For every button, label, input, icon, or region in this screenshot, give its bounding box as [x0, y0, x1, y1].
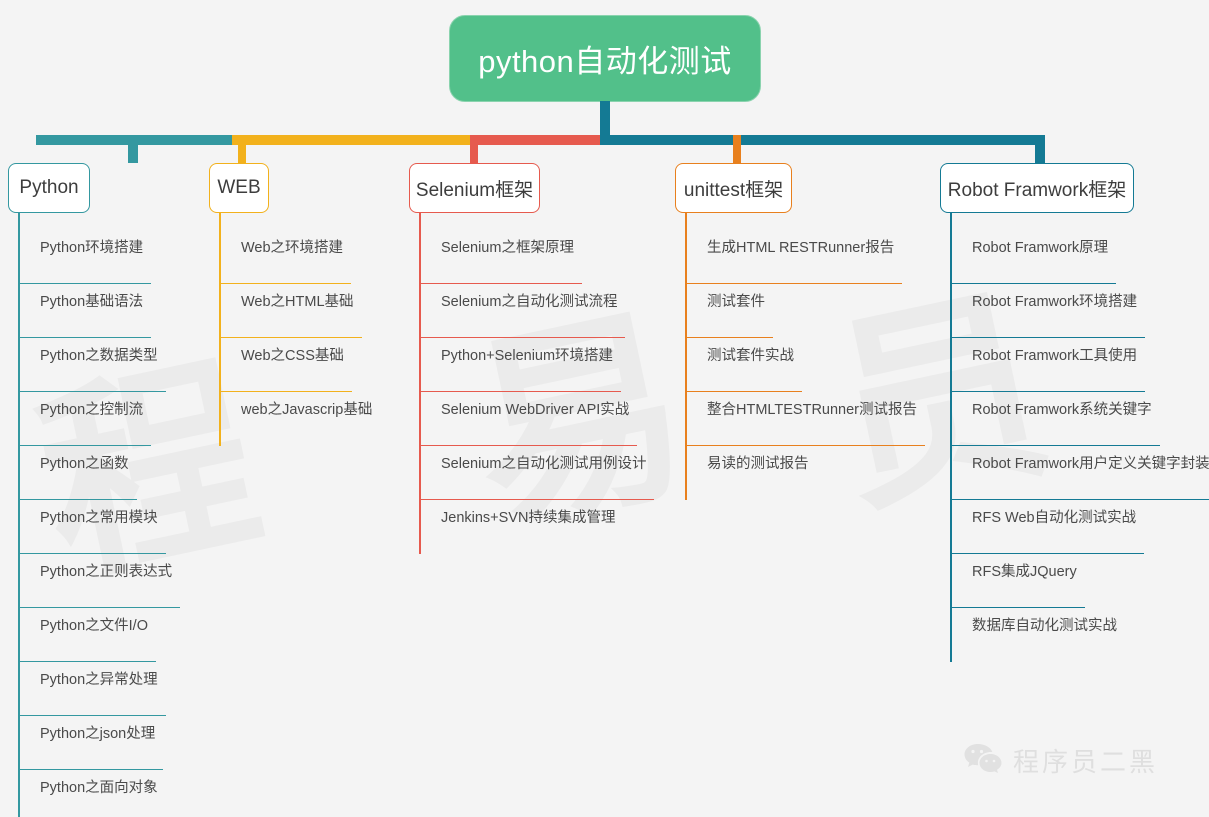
leaf-underline [219, 391, 352, 392]
branch-stem-web [238, 135, 246, 163]
leaf-item-label: Python之控制流 [40, 398, 143, 419]
leaf-underline [950, 445, 1160, 446]
leaf-item-label: Robot Framwork系统关键字 [972, 398, 1152, 419]
leaf-spine [18, 284, 20, 338]
leaf-item-label: Selenium之框架原理 [441, 236, 574, 257]
leaf-item-label: 测试套件实战 [707, 344, 794, 365]
wechat-watermark-label: 程序员二黑 [1013, 742, 1158, 779]
leaf-underline [18, 553, 166, 554]
leaf-spine [419, 284, 421, 338]
leaf-item-label: web之Javascrip基础 [241, 398, 372, 419]
leaf-spine [18, 500, 20, 554]
leaf-spine [685, 338, 687, 392]
leaf-item-label: 测试套件 [707, 290, 765, 311]
leaf-spine [685, 392, 687, 446]
leaf-spine [18, 716, 20, 770]
leaf-underline [219, 283, 351, 284]
root-node-label: python自动化测试 [478, 36, 732, 81]
trunk-segment-right [600, 135, 1041, 145]
leaf-item-label: 整合HTMLTESTRunner测试报告 [707, 398, 917, 419]
leaf-underline [950, 391, 1145, 392]
leaf-spine [219, 284, 221, 338]
leaf-spine [950, 554, 952, 608]
trunk-segment-web [232, 135, 472, 145]
leaf-spine [419, 446, 421, 500]
leaf-underline [685, 283, 902, 284]
leaf-item-label: Selenium WebDriver API实战 [441, 398, 629, 419]
leaf-spine [950, 446, 952, 500]
leaf-underline [18, 499, 137, 500]
leaf-item-label: Python之面向对象 [40, 776, 158, 797]
leaf-spine [419, 338, 421, 392]
branch-tail-python [18, 213, 20, 230]
leaf-spine [950, 392, 952, 446]
leaf-spine [419, 230, 421, 284]
leaf-underline [419, 283, 582, 284]
leaf-spine [419, 500, 421, 554]
leaf-underline [950, 283, 1116, 284]
leaf-underline [419, 337, 625, 338]
leaf-underline [685, 445, 925, 446]
branch-stem-robot [1035, 135, 1045, 163]
leaf-item-label: Python之函数 [40, 452, 129, 473]
leaf-item-label: 易读的测试报告 [707, 452, 809, 473]
leaf-item-label: Selenium之自动化测试流程 [441, 290, 617, 311]
leaf-item-label: Robot Framwork原理 [972, 236, 1108, 257]
background-watermark-char: 员 [801, 210, 1087, 555]
leaf-spine [18, 338, 20, 392]
leaf-underline [950, 499, 1209, 500]
leaf-spine [950, 608, 952, 662]
leaf-item-label: Web之环境搭建 [241, 236, 343, 257]
leaf-spine [219, 230, 221, 284]
branch-node-label: unittest框架 [684, 175, 783, 202]
leaf-spine [219, 338, 221, 392]
leaf-item-label: Python之异常处理 [40, 668, 158, 689]
leaf-spine [950, 284, 952, 338]
leaf-item-label: RFS Web自动化测试实战 [972, 506, 1136, 527]
leaf-item-label: Python之文件I/O [40, 614, 148, 635]
leaf-item-label: Robot Framwork用户定义关键字封装 [972, 452, 1209, 473]
leaf-spine [419, 392, 421, 446]
leaf-spine [950, 230, 952, 284]
leaf-item-label: Python之数据类型 [40, 344, 158, 365]
wechat-watermark: 程序员二黑 [963, 742, 1158, 779]
leaf-item-label: Robot Framwork环境搭建 [972, 290, 1137, 311]
leaf-underline [18, 769, 163, 770]
leaf-item-label: Python之正则表达式 [40, 560, 172, 581]
leaf-item-label: Jenkins+SVN持续集成管理 [441, 506, 615, 527]
leaf-item-label: Web之HTML基础 [241, 290, 354, 311]
leaf-item-label: Web之CSS基础 [241, 344, 344, 365]
branch-tail-web [219, 213, 221, 230]
leaf-item-label: Robot Framwork工具使用 [972, 344, 1137, 365]
trunk-segment-selenium [472, 135, 605, 145]
leaf-item-label: Python+Selenium环境搭建 [441, 344, 613, 365]
leaf-item-label: Python之json处理 [40, 722, 155, 743]
leaf-spine [950, 338, 952, 392]
branch-stem-python [128, 135, 138, 163]
leaf-underline [950, 337, 1145, 338]
leaf-underline [685, 337, 773, 338]
leaf-underline [18, 391, 166, 392]
leaf-underline [419, 445, 637, 446]
leaf-spine [18, 392, 20, 446]
branch-node-label: Robot Framwork框架 [948, 175, 1126, 202]
branch-node-robot[interactable]: Robot Framwork框架 [940, 163, 1134, 213]
leaf-spine [685, 446, 687, 500]
leaf-item-label: RFS集成JQuery [972, 560, 1077, 581]
leaf-underline [18, 283, 151, 284]
leaf-underline [18, 715, 166, 716]
leaf-underline [950, 553, 1144, 554]
leaf-spine [18, 770, 20, 817]
leaf-underline [18, 661, 156, 662]
leaf-underline [419, 391, 621, 392]
branch-node-selenium[interactable]: Selenium框架 [409, 163, 540, 213]
leaf-underline [950, 607, 1085, 608]
root-node[interactable]: python自动化测试 [449, 15, 761, 102]
leaf-spine [18, 230, 20, 284]
leaf-underline [419, 499, 654, 500]
leaf-item-label: 数据库自动化测试实战 [972, 614, 1117, 635]
leaf-item-label: Python基础语法 [40, 290, 143, 311]
leaf-item-label: Python之常用模块 [40, 506, 158, 527]
leaf-spine [18, 608, 20, 662]
branch-node-label: WEB [217, 177, 260, 199]
leaf-underline [685, 391, 802, 392]
branch-stem-selenium [470, 135, 478, 163]
branch-stem-unittest [733, 135, 741, 163]
branch-tail-robot [950, 213, 952, 230]
leaf-underline [219, 337, 362, 338]
leaf-item-label: Selenium之自动化测试用例设计 [441, 452, 646, 473]
branch-tail-unittest [685, 213, 687, 230]
branch-node-web[interactable]: WEB [209, 163, 269, 213]
leaf-spine [18, 662, 20, 716]
branch-node-label: Python [19, 177, 78, 199]
branch-node-label: Selenium框架 [416, 175, 533, 202]
leaf-spine [950, 500, 952, 554]
branch-node-unittest[interactable]: unittest框架 [675, 163, 792, 213]
branch-tail-selenium [419, 213, 421, 230]
leaf-item-label: 生成HTML RESTRunner报告 [707, 236, 894, 257]
wechat-icon [963, 742, 1003, 779]
leaf-underline [18, 445, 151, 446]
leaf-underline [18, 607, 180, 608]
leaf-item-label: Python环境搭建 [40, 236, 143, 257]
leaf-spine [685, 284, 687, 338]
leaf-spine [685, 230, 687, 284]
branch-node-python[interactable]: Python [8, 163, 90, 213]
leaf-spine [219, 392, 221, 446]
leaf-spine [18, 446, 20, 500]
leaf-underline [18, 337, 151, 338]
mindmap-canvas: 程 易 员 python自动化测试 PythonPython环境搭建Python… [0, 0, 1209, 817]
leaf-spine [18, 554, 20, 608]
